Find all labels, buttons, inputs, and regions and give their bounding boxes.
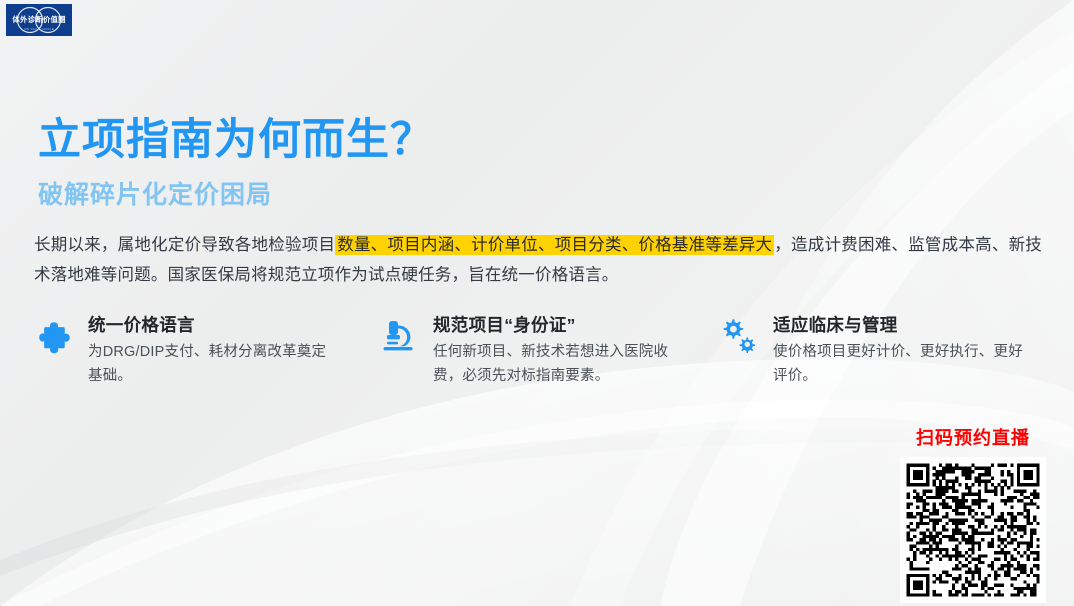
feature-body: 统一价格语言 为DRG/DIP支付、耗材分离改革奠定基础。	[88, 314, 379, 388]
gears-icon	[719, 316, 759, 356]
slide-canvas: 体外诊断价值圈 IVD VALUE CIRCLE 立项指南为何而生？ 破解碎片化…	[0, 0, 1074, 606]
qr-code[interactable]	[900, 457, 1046, 603]
microscope-icon	[379, 316, 419, 356]
feature-item: 统一价格语言 为DRG/DIP支付、耗材分离改革奠定基础。	[34, 314, 379, 388]
feature-title: 规范项目“身份证”	[433, 314, 719, 338]
puzzle-piece-icon	[34, 316, 74, 356]
page-subtitle: 破解碎片化定价困局	[38, 182, 272, 210]
page-title: 立项指南为何而生？	[38, 118, 434, 163]
feature-title: 统一价格语言	[88, 314, 379, 338]
feature-body: 适应临床与管理 使价格项目更好计价、更好执行、更好评价。	[773, 314, 1044, 388]
logo-subtext: IVD VALUE CIRCLE	[24, 27, 55, 31]
feature-item: 规范项目“身份证” 任何新项目、新技术若想进入医院收费，必须先对标指南要素。	[379, 314, 719, 388]
highlighted-phrase: 数量、项目内涵、计价单位、项目分类、价格基准等差异大	[335, 235, 774, 255]
feature-description: 为DRG/DIP支付、耗材分离改革奠定基础。	[88, 340, 338, 388]
feature-description: 任何新项目、新技术若想进入医院收费，必须先对标指南要素。	[433, 340, 695, 388]
feature-body: 规范项目“身份证” 任何新项目、新技术若想进入医院收费，必须先对标指南要素。	[433, 314, 719, 388]
feature-title: 适应临床与管理	[773, 314, 1044, 338]
feature-list: 统一价格语言 为DRG/DIP支付、耗材分离改革奠定基础。 规范项目“身份证” …	[34, 314, 1044, 388]
qr-block: 扫码预约直播	[898, 428, 1048, 603]
body-paragraph: 长期以来，属地化定价导致各地检验项目数量、项目内涵、计价单位、项目分类、价格基准…	[34, 230, 1042, 290]
brand-logo: 体外诊断价值圈 IVD VALUE CIRCLE	[6, 4, 72, 36]
feature-item: 适应临床与管理 使价格项目更好计价、更好执行、更好评价。	[719, 314, 1044, 388]
logo-wordmark: 体外诊断价值圈	[12, 16, 65, 23]
qr-caption: 扫码预约直播	[898, 428, 1048, 450]
paragraph-part-1: 长期以来，属地化定价导致各地检验项目	[34, 236, 335, 254]
feature-description: 使价格项目更好计价、更好执行、更好评价。	[773, 340, 1031, 388]
